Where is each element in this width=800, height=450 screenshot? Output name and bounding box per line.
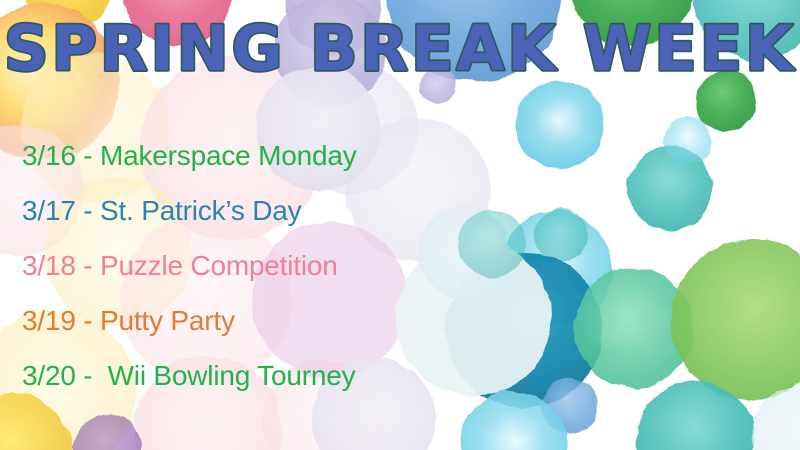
blob-teal-bottom <box>638 380 754 450</box>
event-separator: - <box>76 142 100 170</box>
spring-break-flyer: SPRING BREAK WEEK 3/16 - Makerspace Mond… <box>0 0 800 450</box>
blob-sky-dot <box>542 378 598 434</box>
event-separator: - <box>76 307 100 335</box>
blob-pale-right-edge <box>752 386 800 450</box>
event-date: 3/17 <box>22 197 76 225</box>
blob-teal-small-mid <box>535 210 587 262</box>
blob-lightblue-edge-right <box>664 116 712 164</box>
list-item: 3/17 - St. Patrick’s Day <box>22 183 542 238</box>
list-item: 3/19 - Putty Party <box>22 293 542 348</box>
event-separator: - <box>76 197 100 225</box>
list-item: 3/18 - Puzzle Competition <box>22 238 542 293</box>
event-date: 3/18 <box>22 252 76 280</box>
event-date: 3/19 <box>22 307 76 335</box>
event-separator: - <box>76 362 108 390</box>
event-list: 3/16 - Makerspace Monday 3/17 - St. Patr… <box>22 128 542 403</box>
list-item: 3/16 - Makerspace Monday <box>22 128 542 183</box>
event-name: St. Patrick’s Day <box>100 197 301 225</box>
event-separator: - <box>76 252 100 280</box>
event-date: 3/20 <box>22 362 76 390</box>
event-date: 3/16 <box>22 142 76 170</box>
page-title: SPRING BREAK WEEK <box>4 12 796 85</box>
blob-mint-large <box>574 268 694 388</box>
list-item: 3/20 - Wii Bowling Tourney <box>22 348 542 403</box>
blob-light-green-large <box>672 240 800 400</box>
title-svg: SPRING BREAK WEEK <box>80 12 720 94</box>
event-name: Putty Party <box>100 307 235 335</box>
event-name: Wii Bowling Tourney <box>108 362 356 390</box>
event-name: Puzzle Competition <box>100 252 338 280</box>
event-name: Makerspace Monday <box>100 142 357 170</box>
blob-purple-bottom-left <box>74 414 142 450</box>
blob-teal-right-upper <box>628 146 712 230</box>
title-container: SPRING BREAK WEEK <box>0 14 800 92</box>
